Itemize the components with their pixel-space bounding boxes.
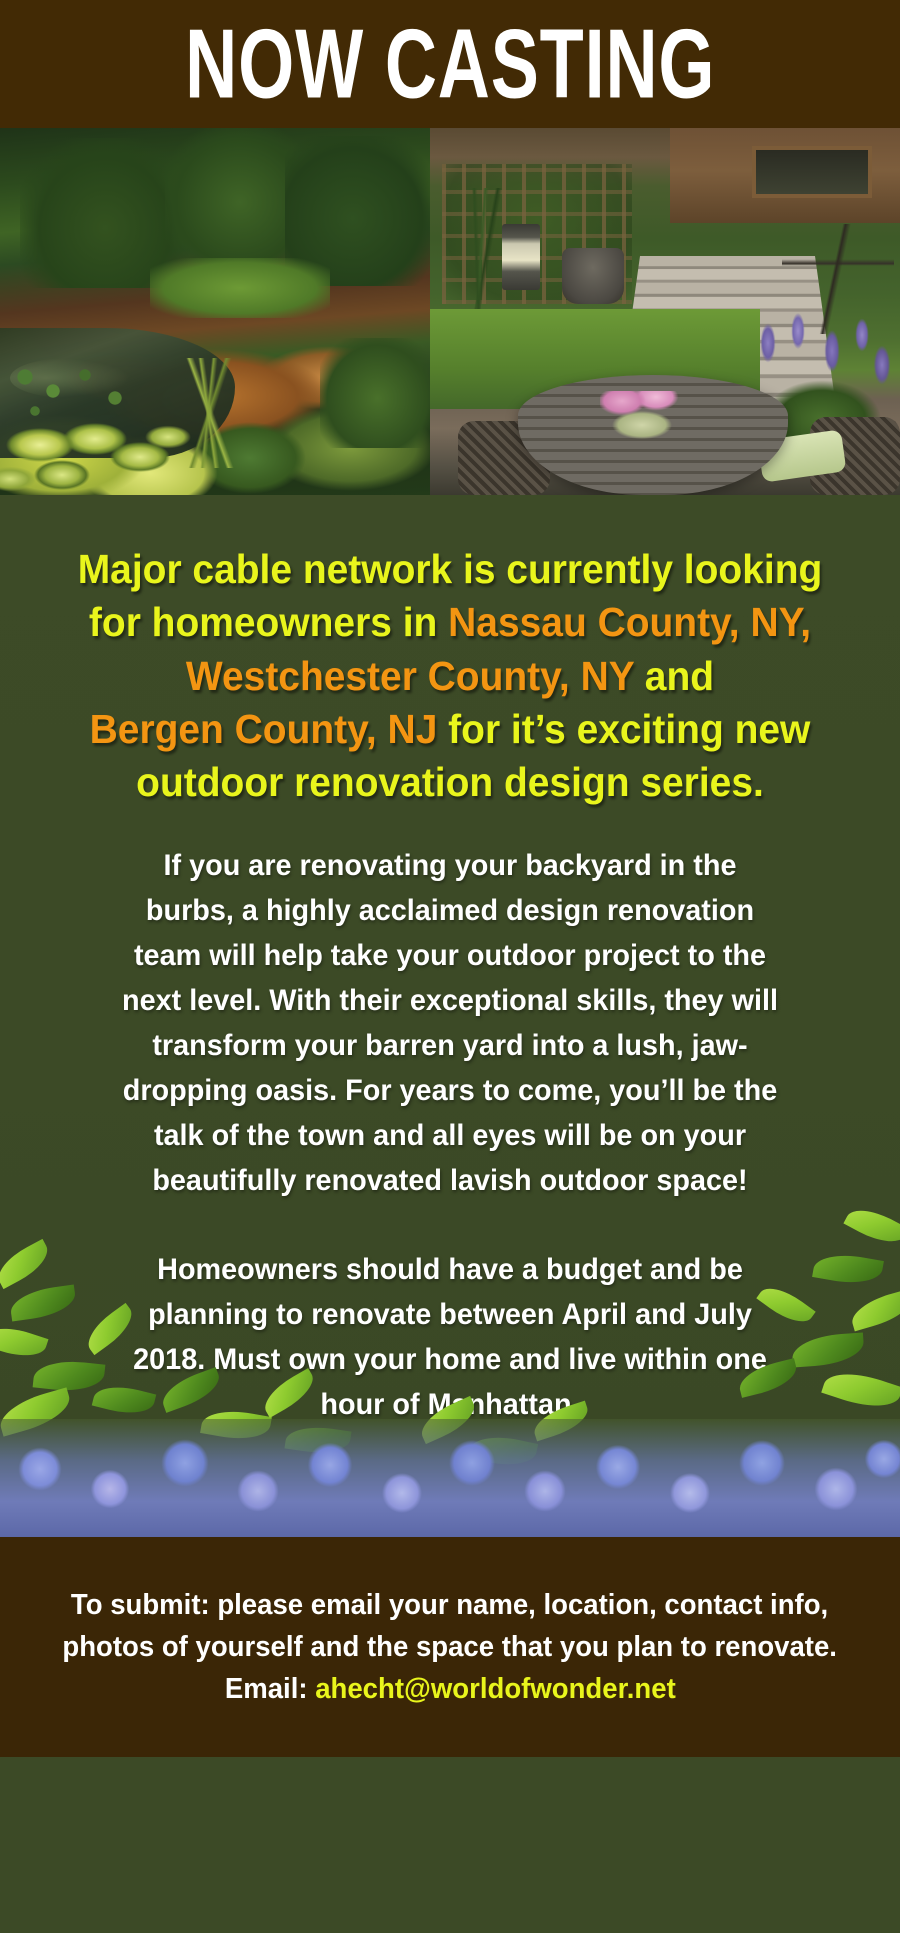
leaf-icon — [8, 1285, 77, 1322]
headline-line-1: Major cable network is currently looking — [78, 546, 823, 592]
email-line: Email: ahecht@worldofwonder.net — [225, 1668, 676, 1710]
leaf-icon — [33, 1357, 106, 1394]
headline-conjunction: and — [634, 653, 714, 699]
planter-pot — [562, 248, 624, 304]
page-title: NOW CASTING — [185, 15, 715, 114]
casting-headline: Major cable network is currently looking… — [76, 543, 825, 809]
leaf-icon — [821, 1364, 900, 1416]
location-nassau: Nassau County, NY, — [448, 599, 811, 645]
casting-call-flyer: NOW CASTING — [0, 0, 900, 1933]
garden-lantern — [502, 224, 540, 290]
shrub — [320, 338, 430, 448]
house-window — [752, 146, 872, 198]
leaf-icon — [791, 1333, 865, 1368]
leaf-icon — [843, 1200, 900, 1251]
hydrangea-flower-band — [0, 1419, 900, 1537]
leaf-icon — [468, 1430, 538, 1471]
headline-line-4-tail: for it’s exciting new — [437, 706, 810, 752]
photo-strip — [0, 128, 900, 495]
email-label: Email: — [225, 1673, 315, 1705]
leaf-icon — [812, 1249, 884, 1288]
email-address[interactable]: ahecht@worldofwonder.net — [315, 1673, 676, 1705]
lawn-patch — [150, 258, 330, 318]
leaf-icon — [848, 1289, 900, 1332]
hosta-plants — [0, 423, 210, 495]
leaf-icon — [285, 1423, 352, 1458]
requirements-paragraph: Homeowners should have a budget and be p… — [119, 1247, 781, 1427]
patio-garden-photo — [430, 128, 900, 495]
leaf-icon — [0, 1387, 75, 1436]
headline-line-5: outdoor renovation design series. — [136, 759, 764, 805]
location-westchester: Westchester County, NY — [186, 653, 634, 699]
house-facade — [670, 128, 900, 223]
body-section: Major cable network is currently looking… — [0, 495, 900, 1537]
leaf-icon — [0, 1239, 55, 1289]
description-paragraph: If you are renovating your backyard in t… — [119, 843, 781, 1203]
submit-instructions-line-1: To submit: please email your name, locat… — [71, 1584, 828, 1626]
header-banner: NOW CASTING — [0, 0, 900, 128]
location-bergen: Bergen County, NJ — [90, 706, 438, 752]
submit-instructions-line-2: photos of yourself and the space that yo… — [63, 1626, 838, 1668]
flower-centerpiece — [600, 391, 686, 443]
leaf-icon — [0, 1320, 48, 1364]
footer-banner: To submit: please email your name, locat… — [0, 1537, 900, 1757]
pond-rock-garden-photo — [0, 128, 430, 495]
headline-line-2-lead: for homeowners in — [89, 599, 448, 645]
